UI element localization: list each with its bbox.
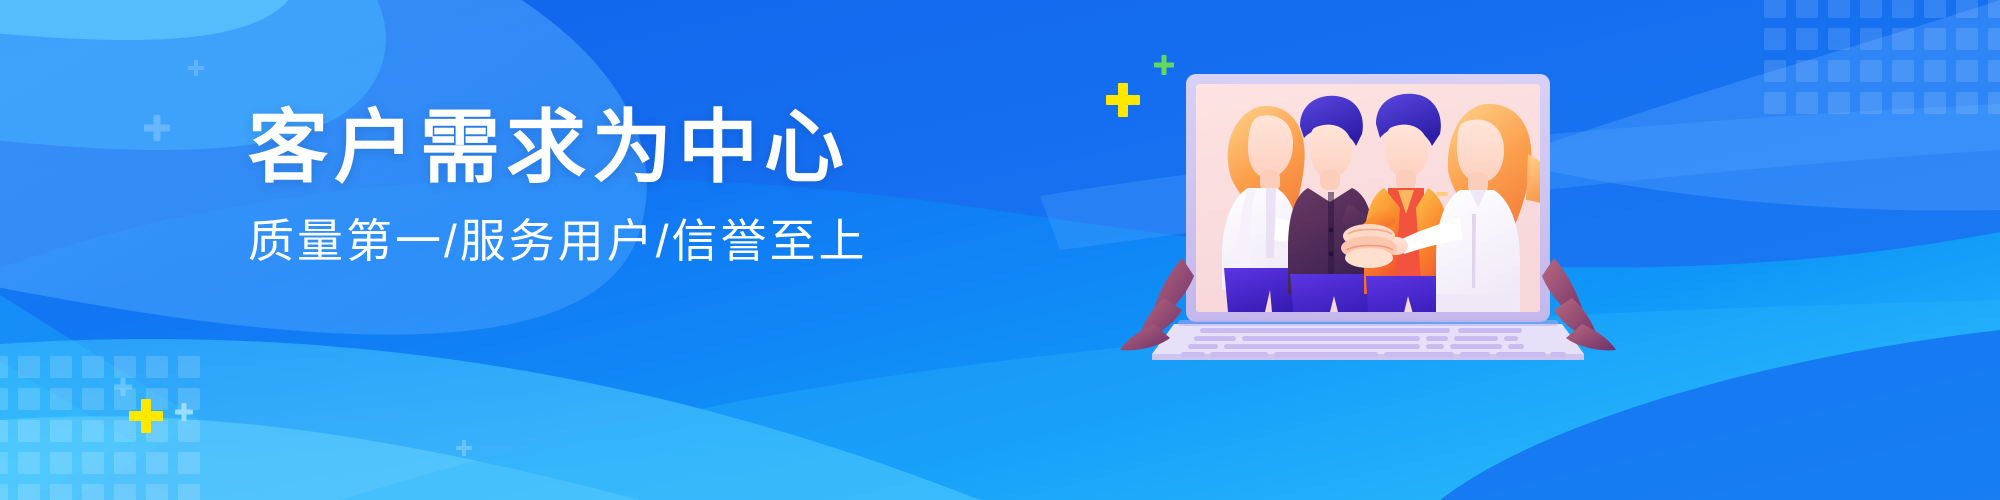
laptop-keyboard — [1152, 320, 1584, 360]
dot-grid-top-right — [1764, 0, 2000, 114]
plus-white-faint-upper-left-icon — [144, 115, 170, 141]
plus-yellow-large-right-icon — [1106, 83, 1140, 117]
plus-cyan-faint-bottom-left-icon — [114, 378, 132, 396]
dot-grid-bottom-left — [0, 356, 200, 500]
plus-yellow-large-bottom-left-icon — [129, 399, 163, 433]
plus-cyan-small-bottom-left-icon — [175, 403, 193, 421]
promotional-banner: 客户需求为中心 质量第一/服务用户/信誉至上 — [0, 0, 2000, 500]
headline-block: 客户需求为中心 质量第一/服务用户/信誉至上 — [248, 108, 868, 264]
plus-white-tiny-upper-left-icon — [188, 60, 204, 76]
plus-white-tiny-bottom-mid-icon — [456, 440, 472, 456]
page-subtitle: 质量第一/服务用户/信誉至上 — [248, 218, 868, 264]
laptop-team-illustration — [1148, 62, 1588, 362]
stacked-hands — [1341, 224, 1397, 268]
page-title: 客户需求为中心 — [248, 108, 868, 188]
